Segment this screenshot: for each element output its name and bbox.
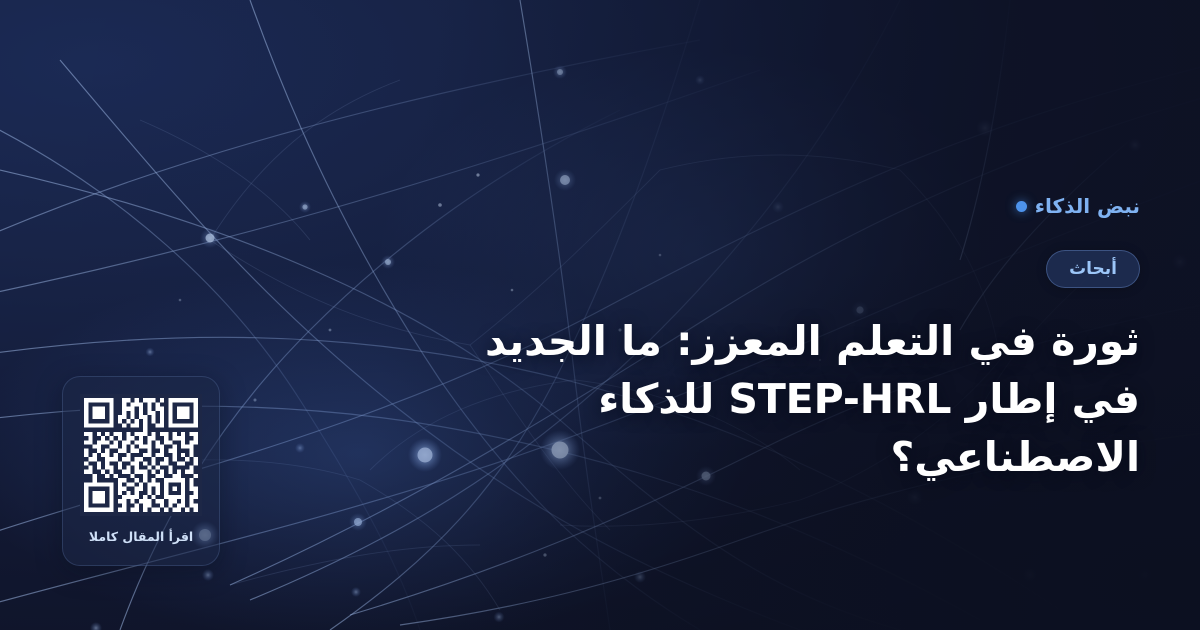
- qr-card-caption: اقرأ المقال كاملا: [89, 529, 193, 544]
- qr-card[interactable]: اقرأ المقال كاملا: [62, 376, 220, 566]
- brand-dot-icon: [1016, 201, 1027, 212]
- brand-name: نبض الذكاء: [1035, 196, 1140, 216]
- page-title: ثورة في التعلم المعزز: ما الجديد في إطار…: [420, 312, 1140, 487]
- category-badge[interactable]: أبحاث: [1046, 250, 1140, 288]
- brand-lockup: نبض الذكاء: [1016, 196, 1140, 216]
- qr-code-icon: [80, 394, 202, 516]
- og-share-card: نبض الذكاء أبحاث ثورة في التعلم المعزز: …: [0, 0, 1200, 630]
